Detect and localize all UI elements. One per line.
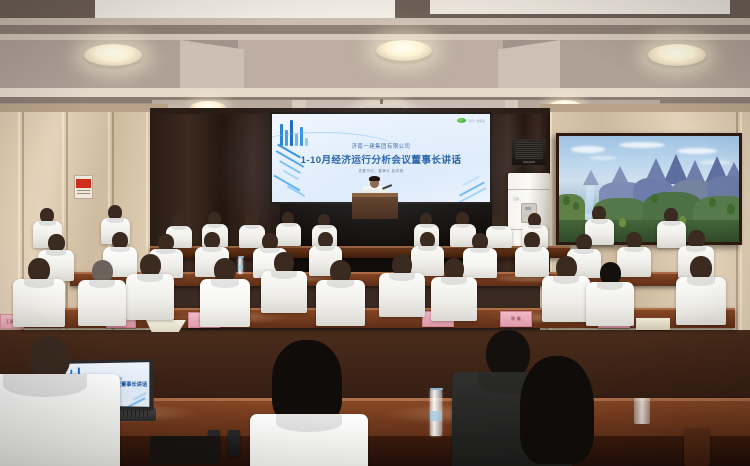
remote-control[interactable]: [228, 430, 240, 456]
screen-title: 1-10月经济运行分析会议董事长讲话: [272, 152, 490, 166]
screen-subtitle: 党委书记、董事长 赵庆刚: [272, 169, 490, 174]
emergency-notice-sign: [74, 175, 93, 199]
nameplate-text: 陈 磊: [511, 316, 521, 322]
speaker-podium: [352, 193, 398, 219]
speaker-mount: [528, 164, 530, 173]
ceiling-lamp: [376, 40, 432, 61]
screen-logo: 济南一建集团: [457, 118, 485, 123]
water-bottle: [430, 390, 442, 436]
screen-logo-text: 济南一建集团: [468, 119, 485, 123]
green-oval-logo-icon: [457, 118, 466, 123]
screen-organization: 济南一建集团有限公司: [272, 142, 490, 150]
conference-room-photo: 济南一建集团 济南一建集团有限公司 1-10月经济运行分析会议董事长讲话 党委书…: [0, 0, 750, 466]
wall-speaker: SPEAKER: [512, 139, 546, 165]
presenter-hair: [369, 176, 380, 181]
mouse-pad: [150, 436, 220, 464]
chair: [684, 428, 710, 466]
open-notebook: [636, 318, 670, 330]
ceiling-lamp: [648, 44, 706, 66]
ac-brand-label: 空调: [513, 197, 519, 201]
ceiling-lamp: [84, 44, 142, 66]
water-bottle: [238, 258, 243, 274]
landscape-mural-frame: [556, 133, 742, 245]
drinking-glass: [634, 398, 650, 424]
nameplate: 陈 磊: [500, 311, 532, 327]
